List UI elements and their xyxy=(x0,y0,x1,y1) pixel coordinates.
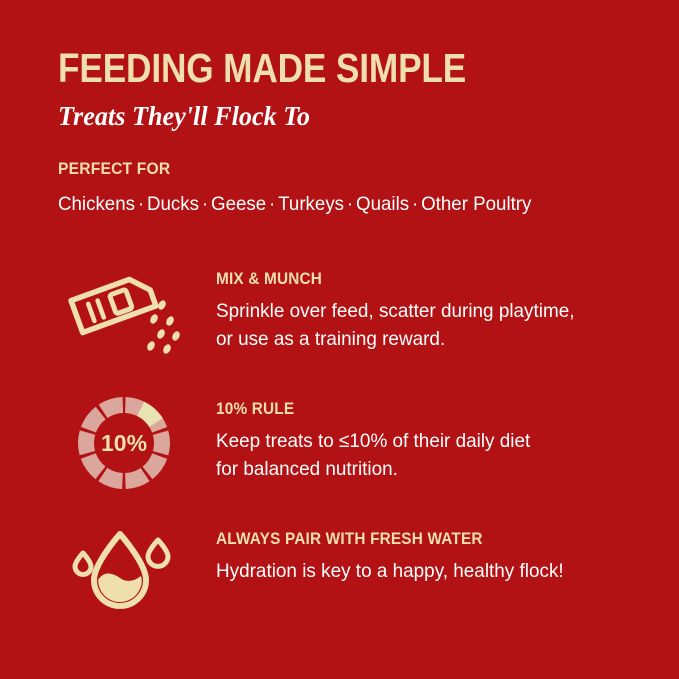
feature-body-line: Keep treats to ≤10% of their daily diet xyxy=(216,428,627,456)
feature-text: ALWAYS PAIR WITH FRESH WATER Hydration i… xyxy=(216,518,640,586)
page-title: FEEDING MADE SIMPLE xyxy=(58,48,558,89)
feature-title: ALWAYS PAIR WITH FRESH WATER xyxy=(216,530,610,549)
percent-ring-icon: 10% xyxy=(58,388,190,498)
feature-text: MIX & MUNCH Sprinkle over feed, scatter … xyxy=(216,258,640,353)
feature-item-ten-percent-rule: 10% 10% RULE Keep treats to ≤10% of thei… xyxy=(40,388,640,518)
species-item: Chickens xyxy=(58,193,135,215)
species-item: Quails xyxy=(356,193,409,215)
feature-body-line: Sprinkle over feed, scatter during playt… xyxy=(216,298,627,326)
feature-title: MIX & MUNCH xyxy=(216,270,610,289)
species-list: Chickens·Ducks·Geese·Turkeys·Quails·Othe… xyxy=(58,193,616,216)
feature-title: 10% RULE xyxy=(216,400,610,419)
feature-body: Sprinkle over feed, scatter during playt… xyxy=(216,298,627,353)
species-item: Turkeys xyxy=(278,193,344,215)
feature-item-fresh-water: ALWAYS PAIR WITH FRESH WATER Hydration i… xyxy=(40,518,640,648)
percent-ring-label: 10% xyxy=(101,430,147,456)
feature-list: MIX & MUNCH Sprinkle over feed, scatter … xyxy=(40,258,640,648)
feature-body-line: or use as a training reward. xyxy=(216,326,627,354)
species-separator: · xyxy=(199,193,211,215)
infographic-panel: FEEDING MADE SIMPLE Treats They'll Flock… xyxy=(0,0,679,679)
species-separator: · xyxy=(409,193,421,215)
page-subtitle: Treats They'll Flock To xyxy=(58,101,622,132)
species-separator: · xyxy=(135,193,147,215)
species-separator: · xyxy=(266,193,278,215)
species-separator: · xyxy=(344,193,356,215)
feature-text: 10% RULE Keep treats to ≤10% of their da… xyxy=(216,388,640,483)
feature-body: Hydration is key to a happy, healthy flo… xyxy=(216,558,627,586)
seed-packet-icon xyxy=(58,258,190,368)
feature-body-line: Hydration is key to a happy, healthy flo… xyxy=(216,558,627,586)
species-item: Ducks xyxy=(147,193,199,215)
header: FEEDING MADE SIMPLE Treats They'll Flock… xyxy=(40,0,639,216)
feature-item-mix-and-munch: MIX & MUNCH Sprinkle over feed, scatter … xyxy=(40,258,640,388)
species-item: Other Poultry xyxy=(421,193,531,215)
feature-body: Keep treats to ≤10% of their daily diet … xyxy=(216,428,627,483)
species-item: Geese xyxy=(211,193,266,215)
perfect-for-label: PERFECT FOR xyxy=(58,159,593,179)
water-droplet-icon xyxy=(58,518,190,628)
feature-body-line: for balanced nutrition. xyxy=(216,456,627,484)
